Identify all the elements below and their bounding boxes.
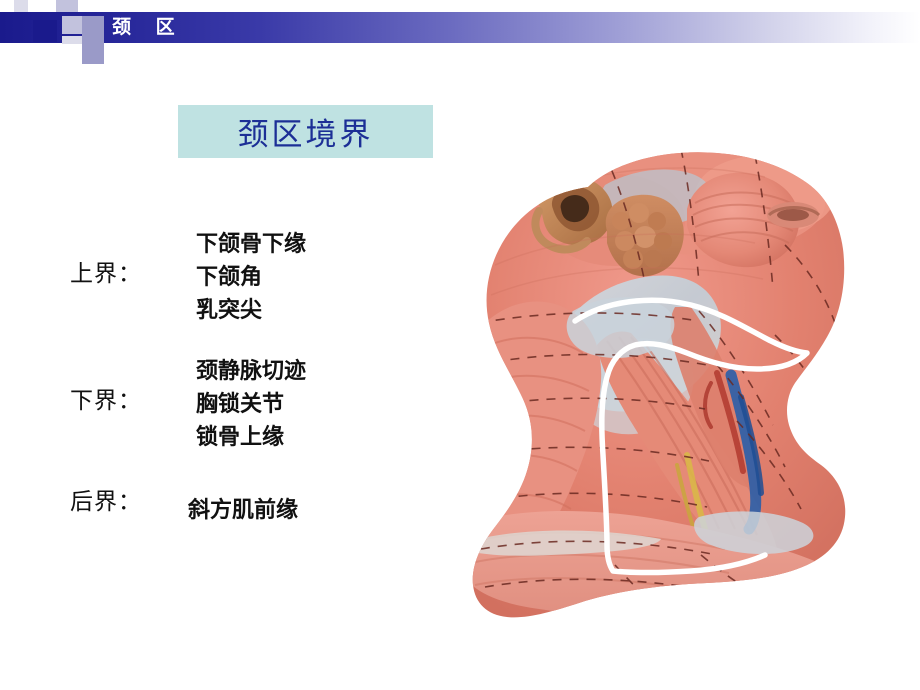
deco-square bbox=[14, 0, 28, 12]
boundary-item: 斜方肌前缘 bbox=[188, 494, 298, 527]
deco-square bbox=[60, 44, 82, 68]
slide-canvas: 颈 区 颈区境界 上界： 下颌骨下缘 下颌角 乳突尖 下界： 颈静脉切迹 胸锁关… bbox=[0, 0, 920, 690]
deco-square bbox=[82, 44, 104, 64]
deco-square bbox=[82, 16, 104, 38]
boundary-item-list: 斜方肌前缘 bbox=[188, 494, 298, 527]
boundary-item: 下颌角 bbox=[196, 261, 306, 294]
deco-square bbox=[56, 0, 78, 12]
deco-square bbox=[33, 20, 57, 42]
deco-square bbox=[28, 0, 56, 12]
slide-title-text: 颈区境界 bbox=[238, 109, 374, 154]
slide-title-plaque: 颈区境界 bbox=[178, 105, 433, 158]
boundary-item: 胸锁关节 bbox=[196, 388, 306, 421]
boundary-label: 下界： bbox=[70, 381, 142, 415]
boundary-item: 下颌骨下缘 bbox=[196, 228, 306, 261]
boundary-item-list: 颈静脉切迹 胸锁关节 锁骨上缘 bbox=[196, 355, 306, 454]
neck-anatomy-image bbox=[455, 125, 865, 630]
boundary-item-list: 下颌骨下缘 下颌角 乳突尖 bbox=[196, 228, 306, 327]
deco-square bbox=[62, 16, 82, 34]
deco-square bbox=[0, 0, 14, 12]
boundary-item: 锁骨上缘 bbox=[196, 421, 306, 454]
header-title: 颈 区 bbox=[112, 12, 184, 43]
boundary-label: 上界： bbox=[70, 254, 142, 288]
boundary-label: 后界： bbox=[70, 482, 142, 516]
boundary-item: 乳突尖 bbox=[196, 294, 306, 327]
boundary-item: 颈静脉切迹 bbox=[196, 355, 306, 388]
